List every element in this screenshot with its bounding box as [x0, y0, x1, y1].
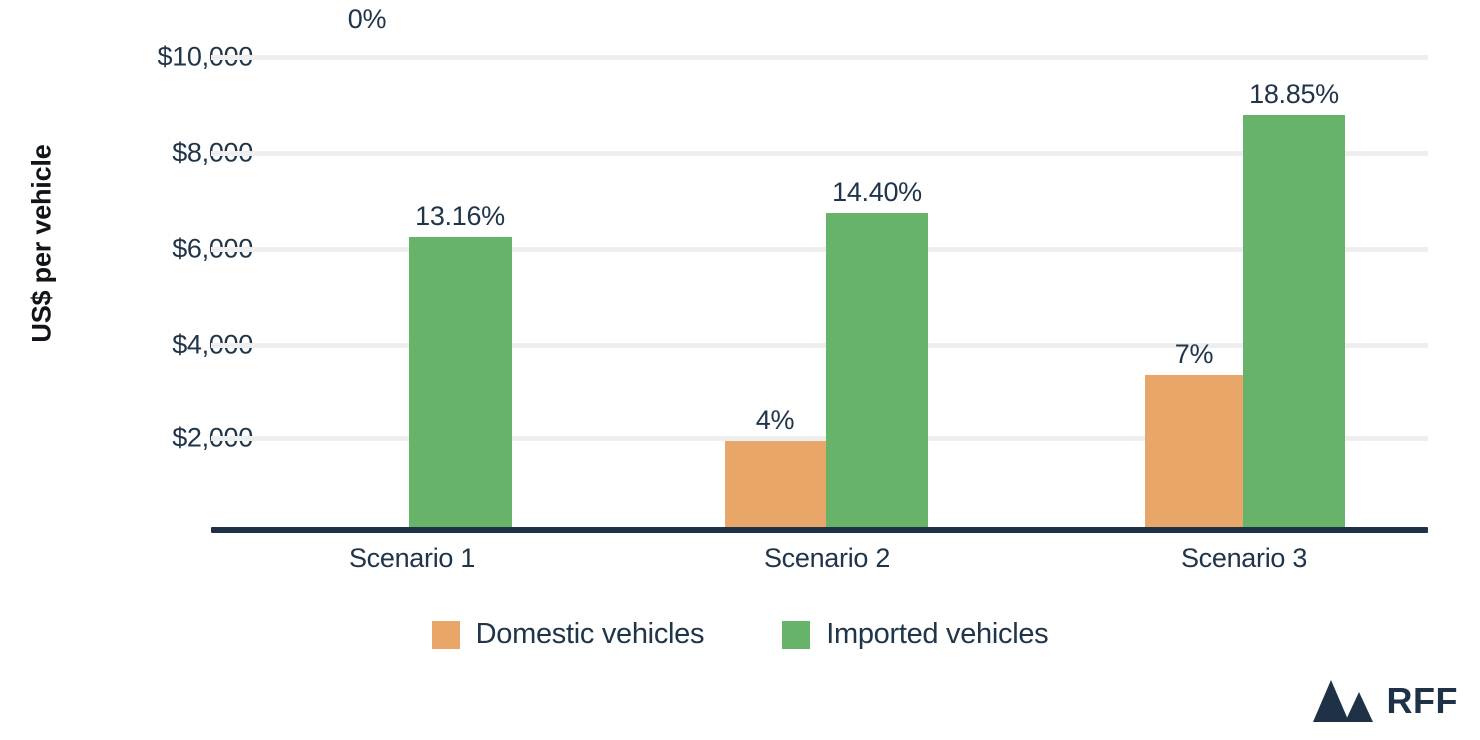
x-tick-label-scenario-2: Scenario 2: [764, 543, 890, 574]
chart-figure: US$ per vehicle $10,000 $8,000 $6,000 $4…: [0, 0, 1480, 740]
bar-label-domestic-scenario-1: 0%: [348, 4, 386, 35]
legend-item-domestic-vehicles[interactable]: Domestic vehicles: [432, 618, 705, 651]
chart-legend: Domestic vehicles Imported vehicles: [0, 618, 1480, 651]
rff-logo: RFF: [1311, 680, 1458, 722]
bar-imported-scenario-3[interactable]: [1243, 115, 1345, 531]
legend-swatch-domestic-icon: [432, 621, 460, 649]
bar-domestic-scenario-3[interactable]: [1145, 375, 1244, 531]
bar-label-domestic-scenario-2: 4%: [756, 405, 794, 436]
bar-imported-scenario-1[interactable]: [409, 237, 512, 531]
x-axis-line: [211, 527, 1428, 533]
x-tick-label-scenario-3: Scenario 3: [1181, 543, 1307, 574]
bar-imported-scenario-2[interactable]: [826, 213, 928, 531]
legend-label-imported: Imported vehicles: [826, 618, 1048, 651]
rff-logo-text: RFF: [1387, 683, 1458, 719]
plot-area: 0% 13.16% 4% 14.40% 7% 18.85%: [211, 20, 1428, 531]
mountain-peaks-icon: [1311, 680, 1375, 722]
legend-item-imported-vehicles[interactable]: Imported vehicles: [782, 618, 1048, 651]
x-tick-label-scenario-1: Scenario 1: [349, 543, 475, 574]
gridline-10000: [211, 55, 1428, 60]
legend-swatch-imported-icon: [782, 621, 810, 649]
bar-domestic-scenario-2[interactable]: [725, 441, 826, 531]
bar-label-imported-scenario-1: 13.16%: [415, 201, 505, 232]
legend-label-domestic: Domestic vehicles: [476, 618, 705, 651]
bar-label-imported-scenario-2: 14.40%: [832, 177, 922, 208]
bar-label-domestic-scenario-3: 7%: [1175, 339, 1213, 370]
bar-label-imported-scenario-3: 18.85%: [1249, 79, 1339, 110]
